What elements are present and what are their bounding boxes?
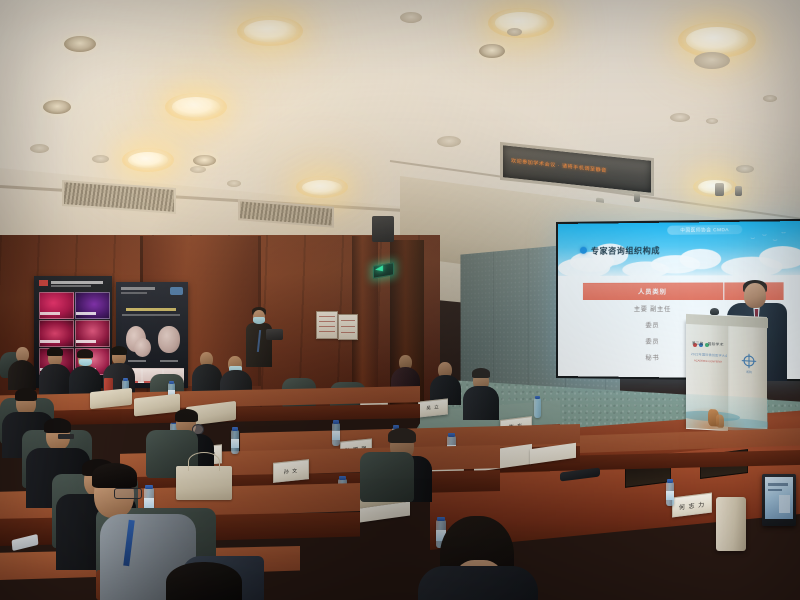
face-mask — [253, 317, 265, 324]
recessed-downlight — [400, 12, 422, 23]
stage-spotlight — [715, 183, 724, 196]
ceiling-lamp — [172, 97, 220, 117]
tote-bag-handle — [188, 452, 220, 471]
wall-notice — [338, 314, 358, 340]
poster-subheader-text — [121, 292, 147, 294]
audience-person-hair — [77, 349, 93, 358]
poster-logo-icon — [170, 287, 183, 295]
podium-brand-text: 第三届 · 国际学术大会 — [692, 341, 724, 351]
camera-device — [266, 329, 283, 340]
podium-microphone — [710, 308, 719, 315]
recessed-downlight — [92, 155, 109, 163]
water-bottle — [534, 398, 541, 418]
speaker-head — [744, 283, 766, 308]
eyeglasses — [114, 488, 142, 499]
stage-spotlight — [735, 186, 742, 196]
recessed-downlight — [30, 144, 49, 153]
poster-title-text — [126, 308, 176, 311]
audience-person-body — [8, 360, 36, 390]
recessed-downlight — [706, 118, 718, 124]
water-bottle — [332, 423, 340, 446]
recessed-downlight — [43, 100, 71, 114]
audience-person-hair — [15, 388, 37, 401]
eyeglasses — [58, 434, 74, 439]
organizer-logo-icon — [740, 352, 758, 371]
document-holder — [716, 497, 746, 551]
wall-speaker — [372, 216, 394, 242]
poster-title-text — [122, 314, 180, 316]
name-placard: 孙 文 — [273, 459, 309, 483]
ceiling-lamp — [302, 180, 342, 195]
table-header-cell: 人员类别 — [582, 282, 723, 300]
conference-hall-photo: 欢迎参加学术会议 · 请将手机调至静音 — [0, 0, 800, 600]
audience-person-body — [39, 364, 71, 398]
water-bottle — [666, 482, 674, 506]
poster-header-text — [121, 287, 155, 290]
wall-notice — [316, 311, 338, 339]
recessed-downlight — [190, 166, 206, 173]
tote-bag — [176, 466, 232, 500]
recessed-downlight — [227, 180, 241, 187]
recessed-downlight — [193, 155, 216, 166]
led-sign-text: 欢迎参加学术会议 · 请将手机调至静音 — [511, 157, 645, 182]
recessed-downlight — [507, 28, 522, 36]
audience-person-body — [463, 386, 499, 420]
poster-subheader-text — [51, 285, 91, 287]
recessed-downlight — [736, 165, 754, 173]
audience-person-head — [166, 562, 242, 600]
audience-person-hair — [175, 409, 198, 422]
recessed-downlight — [479, 44, 505, 58]
slide-watermark: 中国医师协会 CMDA — [667, 225, 742, 235]
audience-person-hair — [92, 463, 137, 488]
audience-person-hair — [111, 346, 127, 355]
poster-caption — [128, 360, 146, 362]
audience-chair — [360, 452, 414, 502]
confidence-monitor-screen — [765, 477, 793, 519]
face-mask — [79, 359, 92, 366]
slide-title: 专家咨询组织构成 — [591, 245, 660, 257]
recessed-downlight — [694, 52, 730, 69]
name-placard: 吴 立 — [418, 398, 448, 417]
ceiling-lamp — [686, 27, 748, 53]
audience-person-hair — [47, 347, 63, 356]
poster-logo-icon — [39, 280, 48, 286]
recessed-downlight — [64, 36, 96, 52]
podium-artwork — [686, 394, 768, 432]
ceiling-lamp — [244, 20, 296, 42]
recessed-downlight — [670, 113, 690, 122]
audience-person-body — [418, 566, 538, 600]
ceiling-lamp — [128, 152, 168, 168]
water-bottle — [231, 430, 239, 454]
poster-caption — [160, 360, 178, 362]
slide-bullet-icon — [580, 247, 587, 254]
recessed-downlight — [437, 136, 461, 147]
audience-person-hair — [472, 368, 490, 378]
audience-person-hair — [388, 428, 416, 443]
stage-spotlight — [634, 193, 640, 202]
poster-header-text — [51, 281, 103, 284]
recessed-downlight — [763, 95, 777, 102]
audience-person-hair — [44, 418, 71, 433]
